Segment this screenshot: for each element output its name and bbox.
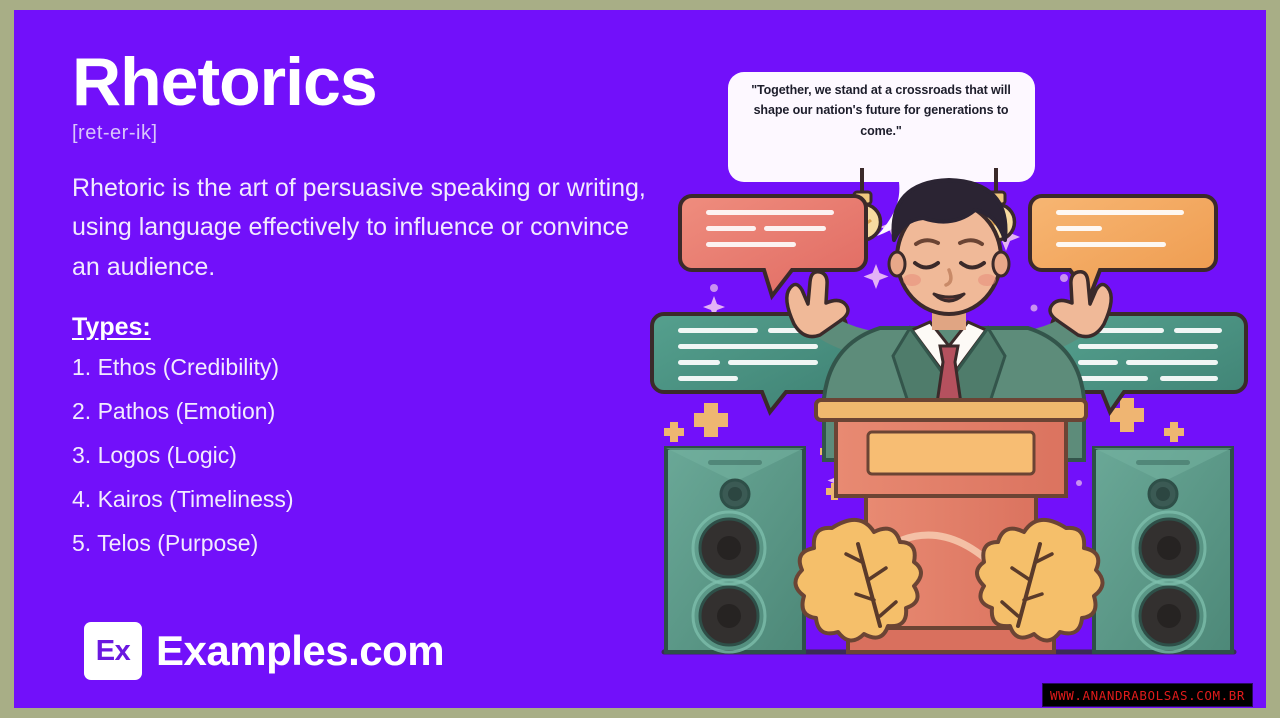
rhetoric-illustration: "Together, we stand at a crossroads that… [644, 28, 1254, 678]
speech-bubble-coral [680, 196, 866, 296]
brand-logo[interactable]: Ex Examples.com [84, 622, 444, 680]
list-item: 2. Pathos (Emotion) [72, 400, 682, 423]
speech-bubble-orange [1030, 196, 1216, 296]
text-column: Rhetorics [ret-er-ik] Rhetoric is the ar… [72, 48, 682, 576]
poster-canvas: Rhetorics [ret-er-ik] Rhetoric is the ar… [14, 10, 1266, 708]
definition-text: Rhetoric is the art of persuasive speaki… [72, 169, 652, 287]
list-item: 3. Logos (Logic) [72, 444, 682, 467]
list-item: 1. Ethos (Credibility) [72, 356, 682, 379]
types-heading: Types: [72, 313, 682, 342]
types-list: 1. Ethos (Credibility) 2. Pathos (Emotio… [72, 356, 682, 555]
list-item: 4. Kairos (Timeliness) [72, 488, 682, 511]
page-title: Rhetorics [72, 48, 682, 116]
watermark-badge: WWW.ANANDRABOLSAS.COM.BR [1042, 683, 1253, 707]
phonetic-spelling: [ret-er-ik] [72, 122, 682, 145]
list-item: 5. Telos (Purpose) [72, 532, 682, 555]
loudspeaker-right [1094, 448, 1232, 652]
logo-wordmark: Examples.com [156, 627, 444, 675]
loudspeaker-left [666, 448, 804, 652]
quote-text: "Together, we stand at a crossroads that… [748, 80, 1014, 141]
logo-mark-icon: Ex [84, 622, 142, 680]
